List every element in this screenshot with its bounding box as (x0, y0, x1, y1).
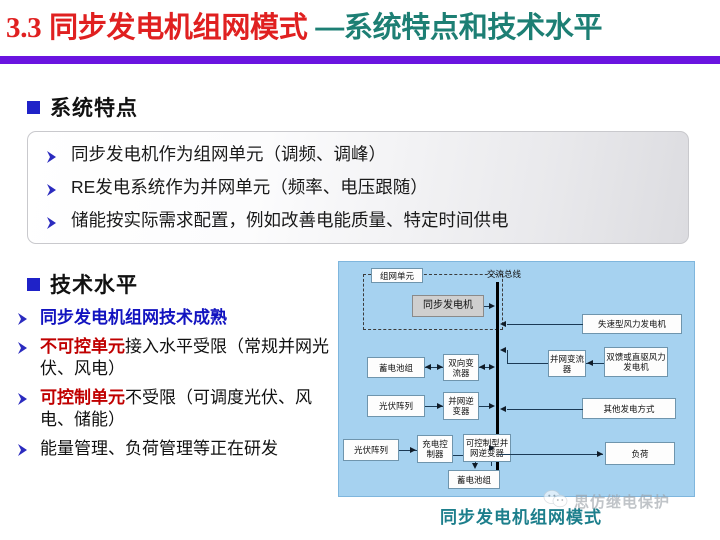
square-bullet-icon (27, 101, 40, 114)
chevron-right-icon (16, 442, 30, 458)
title-number: 3.3 (6, 12, 41, 44)
connector (507, 324, 583, 325)
tech-row: 能量管理、负荷管理等正在研发 (16, 438, 338, 460)
feature-row: 同步发电机作为组网单元（调频、调峰） (45, 144, 386, 165)
box-load: 负荷 (605, 442, 675, 465)
arrow-icon (500, 321, 506, 327)
title-subtitle: 系统特点和技术水平 (344, 12, 602, 44)
feature-row: RE发电系统作为并网单元（频率、电压跟随） (45, 177, 428, 198)
tech-row: 不可控单元接入水平受限（常规并网光伏、风电） (16, 336, 338, 380)
chevron-right-icon (45, 149, 59, 165)
box-other-generation: 其他发电方式 (582, 398, 676, 419)
watermark-text: 思仿继电保护 (574, 491, 670, 512)
chevron-right-icon (45, 215, 59, 231)
arrow-icon (489, 445, 495, 451)
feature-text: RE发电系统作为并网单元（频率、电压跟随） (71, 177, 428, 197)
section-label: 系统特点 (50, 92, 138, 122)
title-dash: — (315, 12, 344, 44)
section-heading-features: 系统特点 (27, 92, 138, 122)
title-main: 同步发电机组网模式 (49, 12, 307, 44)
connector (507, 409, 583, 410)
tech-text-rest: 能量管理、负荷管理等正在研发 (40, 439, 278, 458)
connector (499, 454, 603, 455)
slide: 3.3 同步发电机组网模式 —系统特点和技术水平 系统特点 同步发电机作为组网单… (0, 0, 720, 540)
arrow-icon (500, 347, 506, 353)
section-heading-tech: 技术水平 (27, 269, 138, 299)
tech-text-emphasis: 不可控单元 (40, 337, 125, 356)
arrow-icon (489, 303, 495, 309)
wechat-icon (543, 489, 569, 514)
watermark: 思仿继电保护 (543, 489, 670, 514)
tech-list: 同步发电机组网技术成熟 不可控单元接入水平受限（常规并网光伏、风电） 可控制单元… (16, 307, 338, 467)
arrow-icon (472, 463, 478, 469)
box-sync-generator: 同步发电机 (412, 295, 484, 317)
box-stall-wind-turbine: 失速型风力发电机 (582, 314, 682, 334)
arrow-icon (425, 364, 431, 370)
slide-header: 3.3 同步发电机组网模式 —系统特点和技术水平 (0, 0, 720, 58)
arrow-icon (410, 447, 416, 453)
arrow-icon (479, 364, 485, 370)
box-battery-bank-2: 蓄电池组 (448, 470, 500, 489)
chevron-right-icon (45, 182, 59, 198)
system-diagram: 组网单元 交流总线 同步发电机 失速型风力发电机 蓄电池组 双向变流器 并网变流… (338, 261, 695, 497)
box-charge-controller: 充电控制器 (417, 435, 453, 463)
bus-label: 交流总线 (487, 268, 521, 280)
chevron-right-icon (16, 391, 30, 407)
connector (507, 363, 548, 364)
tech-text: 同步发电机组网技术成熟 (40, 307, 227, 329)
feature-text: 储能按实际需求配置，例如改善电能质量、特定时间供电 (71, 210, 509, 230)
tech-row: 可控制单元不受限（可调度光伏、风电、储能） (16, 387, 338, 431)
tech-row: 同步发电机组网技术成熟 (16, 307, 338, 329)
feature-row: 储能按实际需求配置，例如改善电能质量、特定时间供电 (45, 210, 509, 231)
box-pv-array-2: 光伏阵列 (343, 439, 399, 461)
arrow-icon (437, 403, 443, 409)
arrow-icon (597, 451, 603, 457)
section-label: 技术水平 (50, 269, 138, 299)
box-controllable-grid-inverter: 可控制型并网逆变器 (463, 434, 511, 462)
square-bullet-icon (27, 278, 40, 291)
box-bidirectional-converter: 双向变流器 (443, 354, 479, 381)
tech-text: 可控制单元不受限（可调度光伏、风电、储能） (40, 387, 338, 431)
box-grid-tied-inverter: 并网逆变器 (443, 392, 479, 420)
header-divider-rule (0, 56, 720, 64)
diagram-label-group: 组网单元 (371, 268, 423, 283)
arrow-icon (489, 364, 495, 370)
arrow-icon (437, 364, 443, 370)
feature-text: 同步发电机作为组网单元（调频、调峰） (71, 144, 386, 164)
tech-text-emphasis: 可控制单元 (40, 388, 125, 407)
tech-text-emphasis: 同步发电机组网技术成熟 (40, 308, 227, 327)
connector (507, 350, 508, 363)
chevron-right-icon (16, 340, 30, 356)
arrow-icon (489, 403, 495, 409)
header-divider-gap (0, 64, 720, 67)
arrow-icon (587, 360, 593, 366)
page-title: 3.3 同步发电机组网模式 —系统特点和技术水平 (6, 6, 718, 50)
box-battery-bank-1: 蓄电池组 (367, 357, 425, 378)
box-dfig-or-direct-drive-wind: 双馈或直驱风力发电机 (604, 347, 668, 377)
box-pv-array-1: 光伏阵列 (367, 395, 425, 417)
chevron-right-icon (16, 311, 30, 327)
tech-text: 能量管理、负荷管理等正在研发 (40, 438, 278, 460)
arrow-icon (500, 406, 506, 412)
box-grid-converter: 并网变流器 (548, 350, 586, 377)
tech-text: 不可控单元接入水平受限（常规并网光伏、风电） (40, 336, 338, 380)
